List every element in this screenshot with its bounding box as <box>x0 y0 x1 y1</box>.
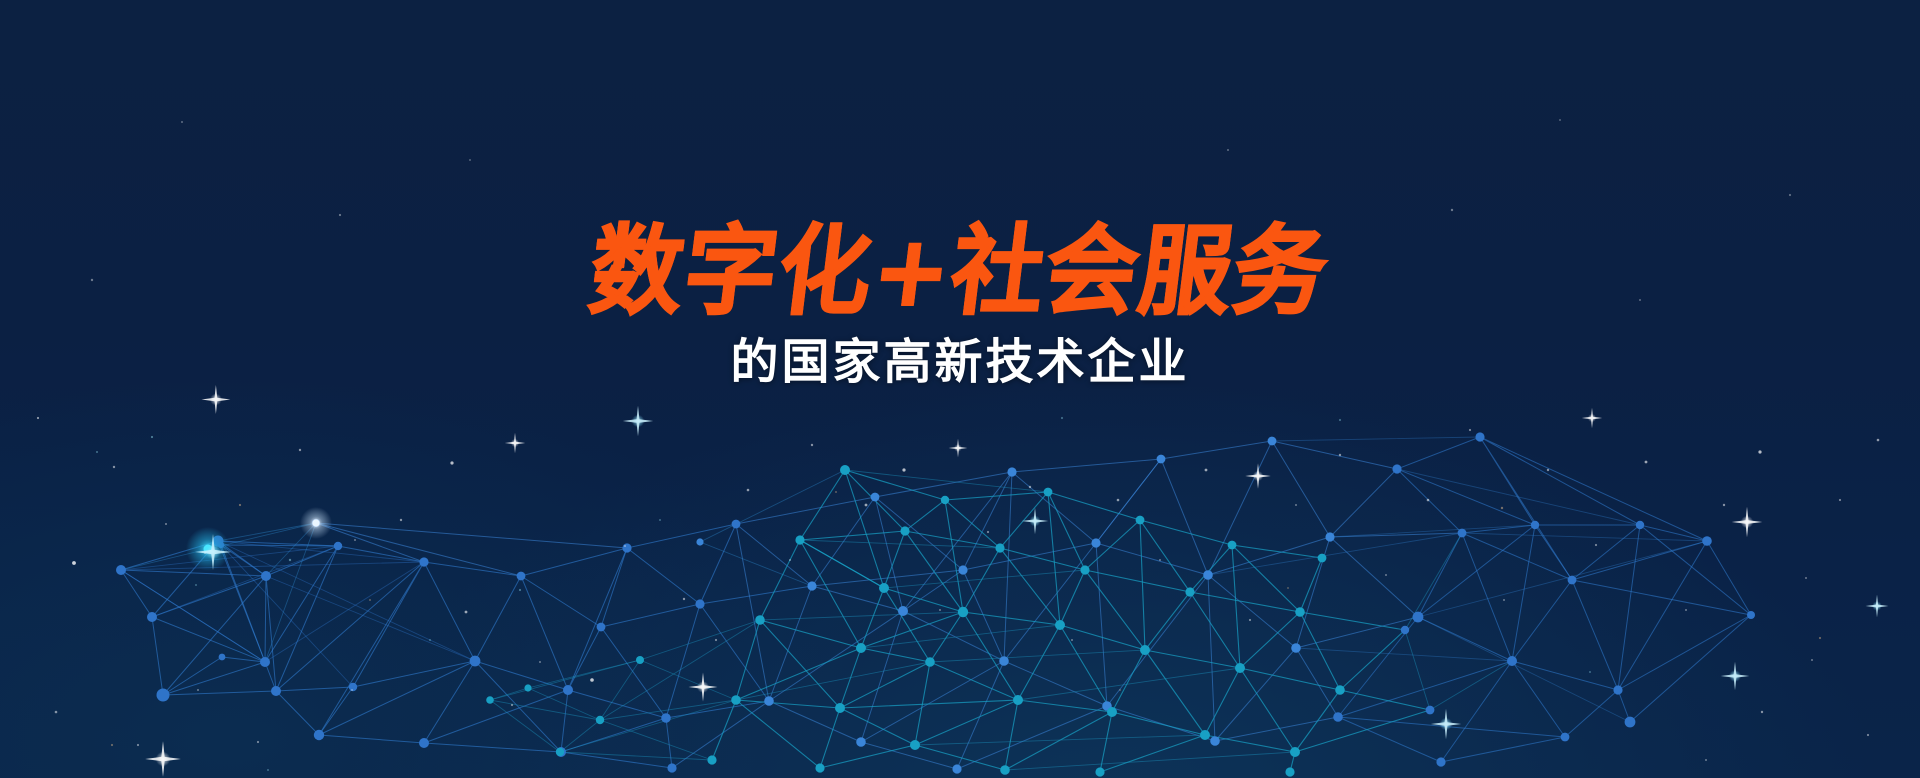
hero-banner: 数字化+社会服务 的国家高新技术企业 <box>0 0 1920 778</box>
sparkle-flares <box>0 0 1920 778</box>
